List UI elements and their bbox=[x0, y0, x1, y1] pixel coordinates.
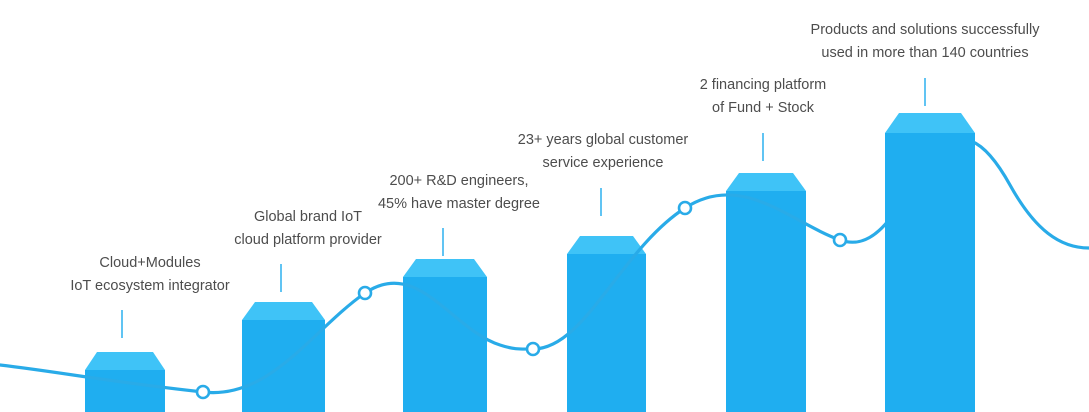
bar-top-face bbox=[726, 173, 806, 191]
bar-top-face bbox=[885, 113, 975, 133]
bar-column bbox=[403, 259, 487, 412]
bar-front-face bbox=[403, 277, 487, 412]
milestones-infographic: Cloud+ModulesIoT ecosystem integratorGlo… bbox=[0, 0, 1089, 412]
bar-front-face bbox=[885, 133, 975, 412]
line-point-marker bbox=[197, 386, 209, 398]
bar-top-face bbox=[242, 302, 325, 320]
bar-column bbox=[726, 173, 806, 412]
bar-front-face bbox=[567, 254, 646, 412]
bar-front-face bbox=[85, 370, 165, 412]
bar-column bbox=[885, 113, 975, 412]
bar-top-face bbox=[85, 352, 165, 370]
line-point-marker bbox=[834, 234, 846, 246]
bar-top-face bbox=[567, 236, 646, 254]
line-point-marker bbox=[359, 287, 371, 299]
line-point-marker bbox=[527, 343, 539, 355]
bars-front-layer bbox=[885, 113, 975, 412]
bar-front-face bbox=[726, 191, 806, 412]
bar-top-face bbox=[403, 259, 487, 277]
bar-column bbox=[242, 302, 325, 412]
line-point-marker bbox=[679, 202, 691, 214]
chart-canvas bbox=[0, 0, 1089, 412]
bars-layer bbox=[85, 173, 806, 412]
